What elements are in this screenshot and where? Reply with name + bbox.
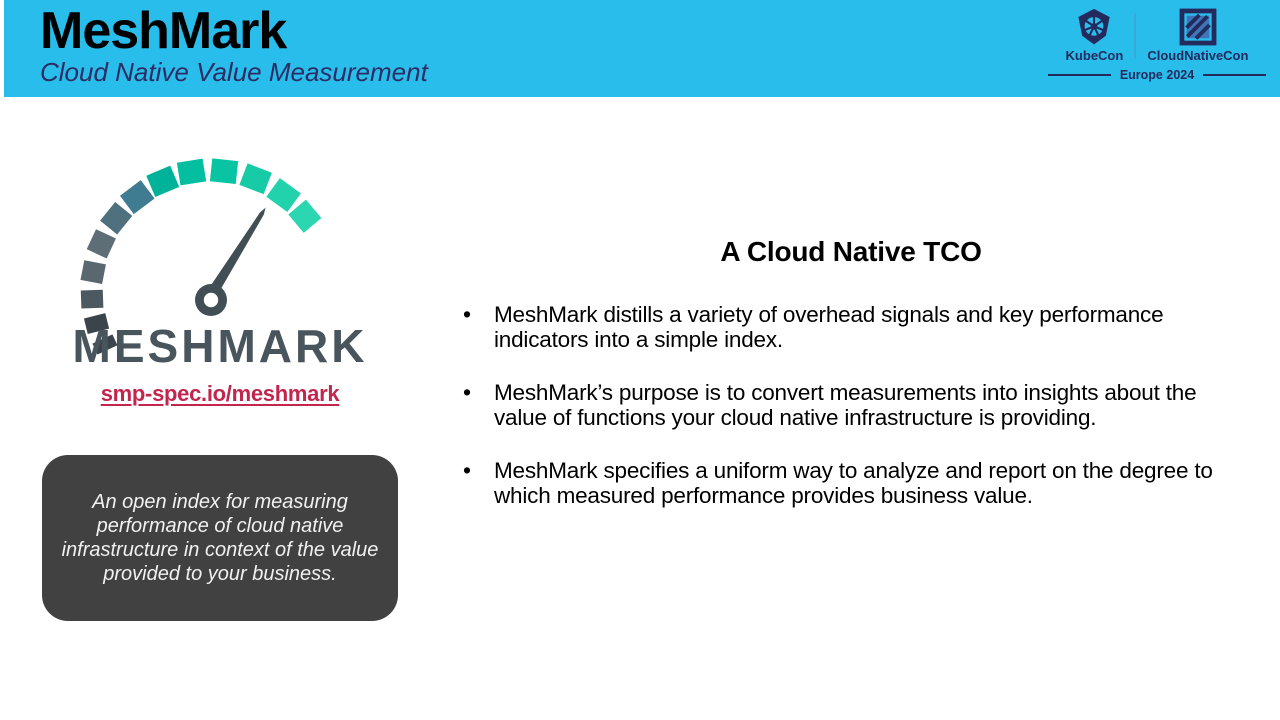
conference-rule-left xyxy=(1048,74,1111,76)
header-title-block: MeshMark Cloud Native Value Measurement xyxy=(40,2,428,87)
left-column: MESHMARK smp-spec.io/meshmark An open in… xyxy=(42,150,398,621)
conference-edition-row: Europe 2024 xyxy=(1048,68,1266,82)
page-title: MeshMark xyxy=(40,2,428,60)
bullet-marker-icon: • xyxy=(448,380,494,405)
list-item: • MeshMark specifies a uniform way to an… xyxy=(448,458,1254,508)
conference-brand-label: KubeCon xyxy=(1066,48,1124,64)
header-bar: MeshMark Cloud Native Value Measurement xyxy=(4,0,1280,97)
bullet-text: MeshMark specifies a uniform way to anal… xyxy=(494,458,1254,508)
meshmark-gauge-logo: MESHMARK xyxy=(42,150,398,375)
cloudnativecon-square-icon xyxy=(1179,7,1217,47)
kubernetes-helm-icon xyxy=(1074,7,1114,47)
conference-brand-cloudnativecon: CloudNativeCon xyxy=(1138,7,1257,64)
tagline-text: An open index for measuring performance … xyxy=(60,490,380,586)
bullet-text: MeshMark’s purpose is to convert measure… xyxy=(494,380,1254,430)
content-heading: A Cloud Native TCO xyxy=(448,236,1254,268)
list-item: • MeshMark distills a variety of overhea… xyxy=(448,302,1254,352)
right-column: A Cloud Native TCO • MeshMark distills a… xyxy=(448,236,1254,536)
tagline-box: An open index for measuring performance … xyxy=(42,455,398,621)
spec-link[interactable]: smp-spec.io/meshmark xyxy=(42,381,398,407)
page-subtitle: Cloud Native Value Measurement xyxy=(40,57,428,87)
conference-edition-label: Europe 2024 xyxy=(1111,68,1203,82)
bullet-list: • MeshMark distills a variety of overhea… xyxy=(448,302,1254,508)
bullet-text: MeshMark distills a variety of overhead … xyxy=(494,302,1254,352)
conference-rule-right xyxy=(1203,74,1266,76)
conference-brand-label: CloudNativeCon xyxy=(1147,48,1248,64)
meshmark-wordmark: MESHMARK xyxy=(73,320,368,372)
conference-brand-kubecon: KubeCon xyxy=(1057,7,1133,64)
conference-brand-row: KubeCon CloudNativeCon xyxy=(1048,6,1266,64)
conference-logo-divider xyxy=(1134,13,1136,59)
bullet-marker-icon: • xyxy=(448,458,494,483)
list-item: • MeshMark’s purpose is to convert measu… xyxy=(448,380,1254,430)
bullet-marker-icon: • xyxy=(448,302,494,327)
conference-logo: KubeCon CloudNativeCon xyxy=(1048,6,1266,92)
